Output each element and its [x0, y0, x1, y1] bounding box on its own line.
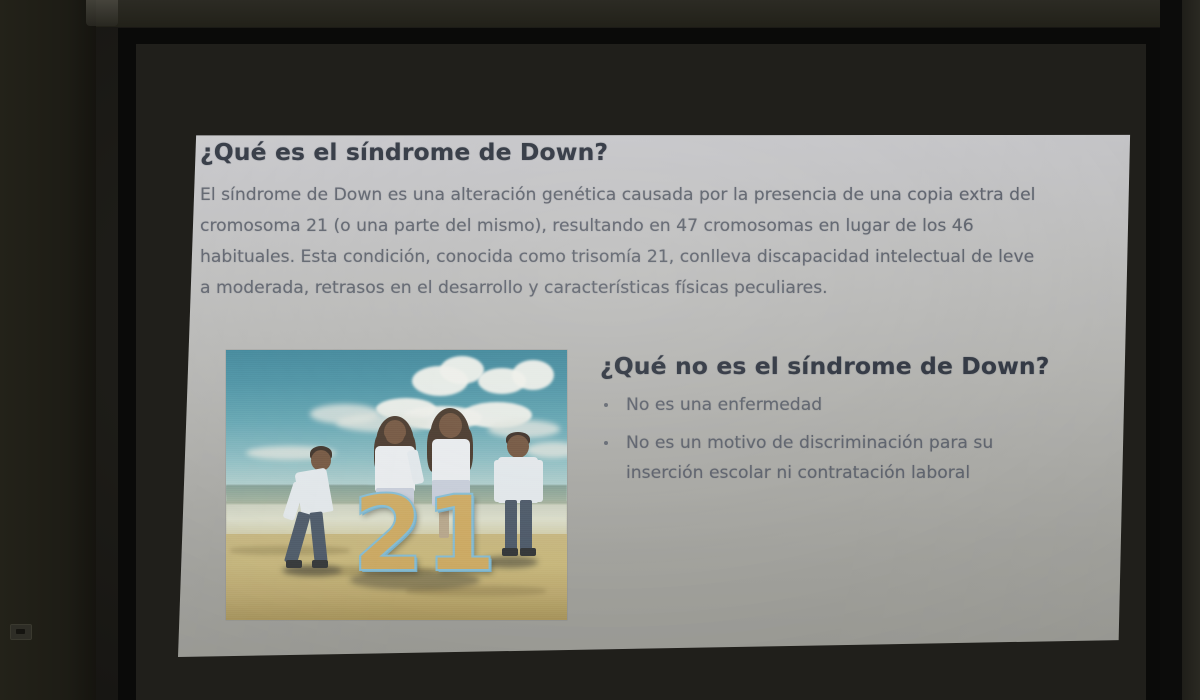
wall-right-panel [1182, 0, 1200, 700]
list-item: No es una enfermedad [600, 390, 1046, 420]
wall-left-panel [0, 0, 96, 700]
ceiling-strip [96, 0, 1160, 27]
wall-right-shadow-band [1160, 0, 1182, 700]
photo-grain [226, 350, 567, 620]
list-item: No es un motivo de discriminación para s… [600, 428, 1046, 488]
section-1-heading: ¿Qué es el síndrome de Down? [200, 138, 1110, 166]
screen-mount-bracket [86, 0, 118, 26]
slide-content: ¿Qué es el síndrome de Down? El síndrome… [200, 138, 1110, 633]
section-2-bullet-list: No es una enfermedad No es un motivo de … [600, 390, 1100, 488]
projected-slide: ¿Qué es el síndrome de Down? El síndrome… [178, 112, 1132, 657]
screenshot-root: ¿Qué es el síndrome de Down? El síndrome… [0, 0, 1200, 700]
section-2-heading: ¿Qué no es el síndrome de Down? [600, 352, 1100, 380]
wall-socket [10, 624, 32, 640]
section-1-paragraph: El síndrome de Down es una alteración ge… [200, 180, 1045, 304]
beach-photo: 21 [226, 350, 567, 620]
right-column: ¿Qué no es el síndrome de Down? No es un… [600, 352, 1100, 496]
